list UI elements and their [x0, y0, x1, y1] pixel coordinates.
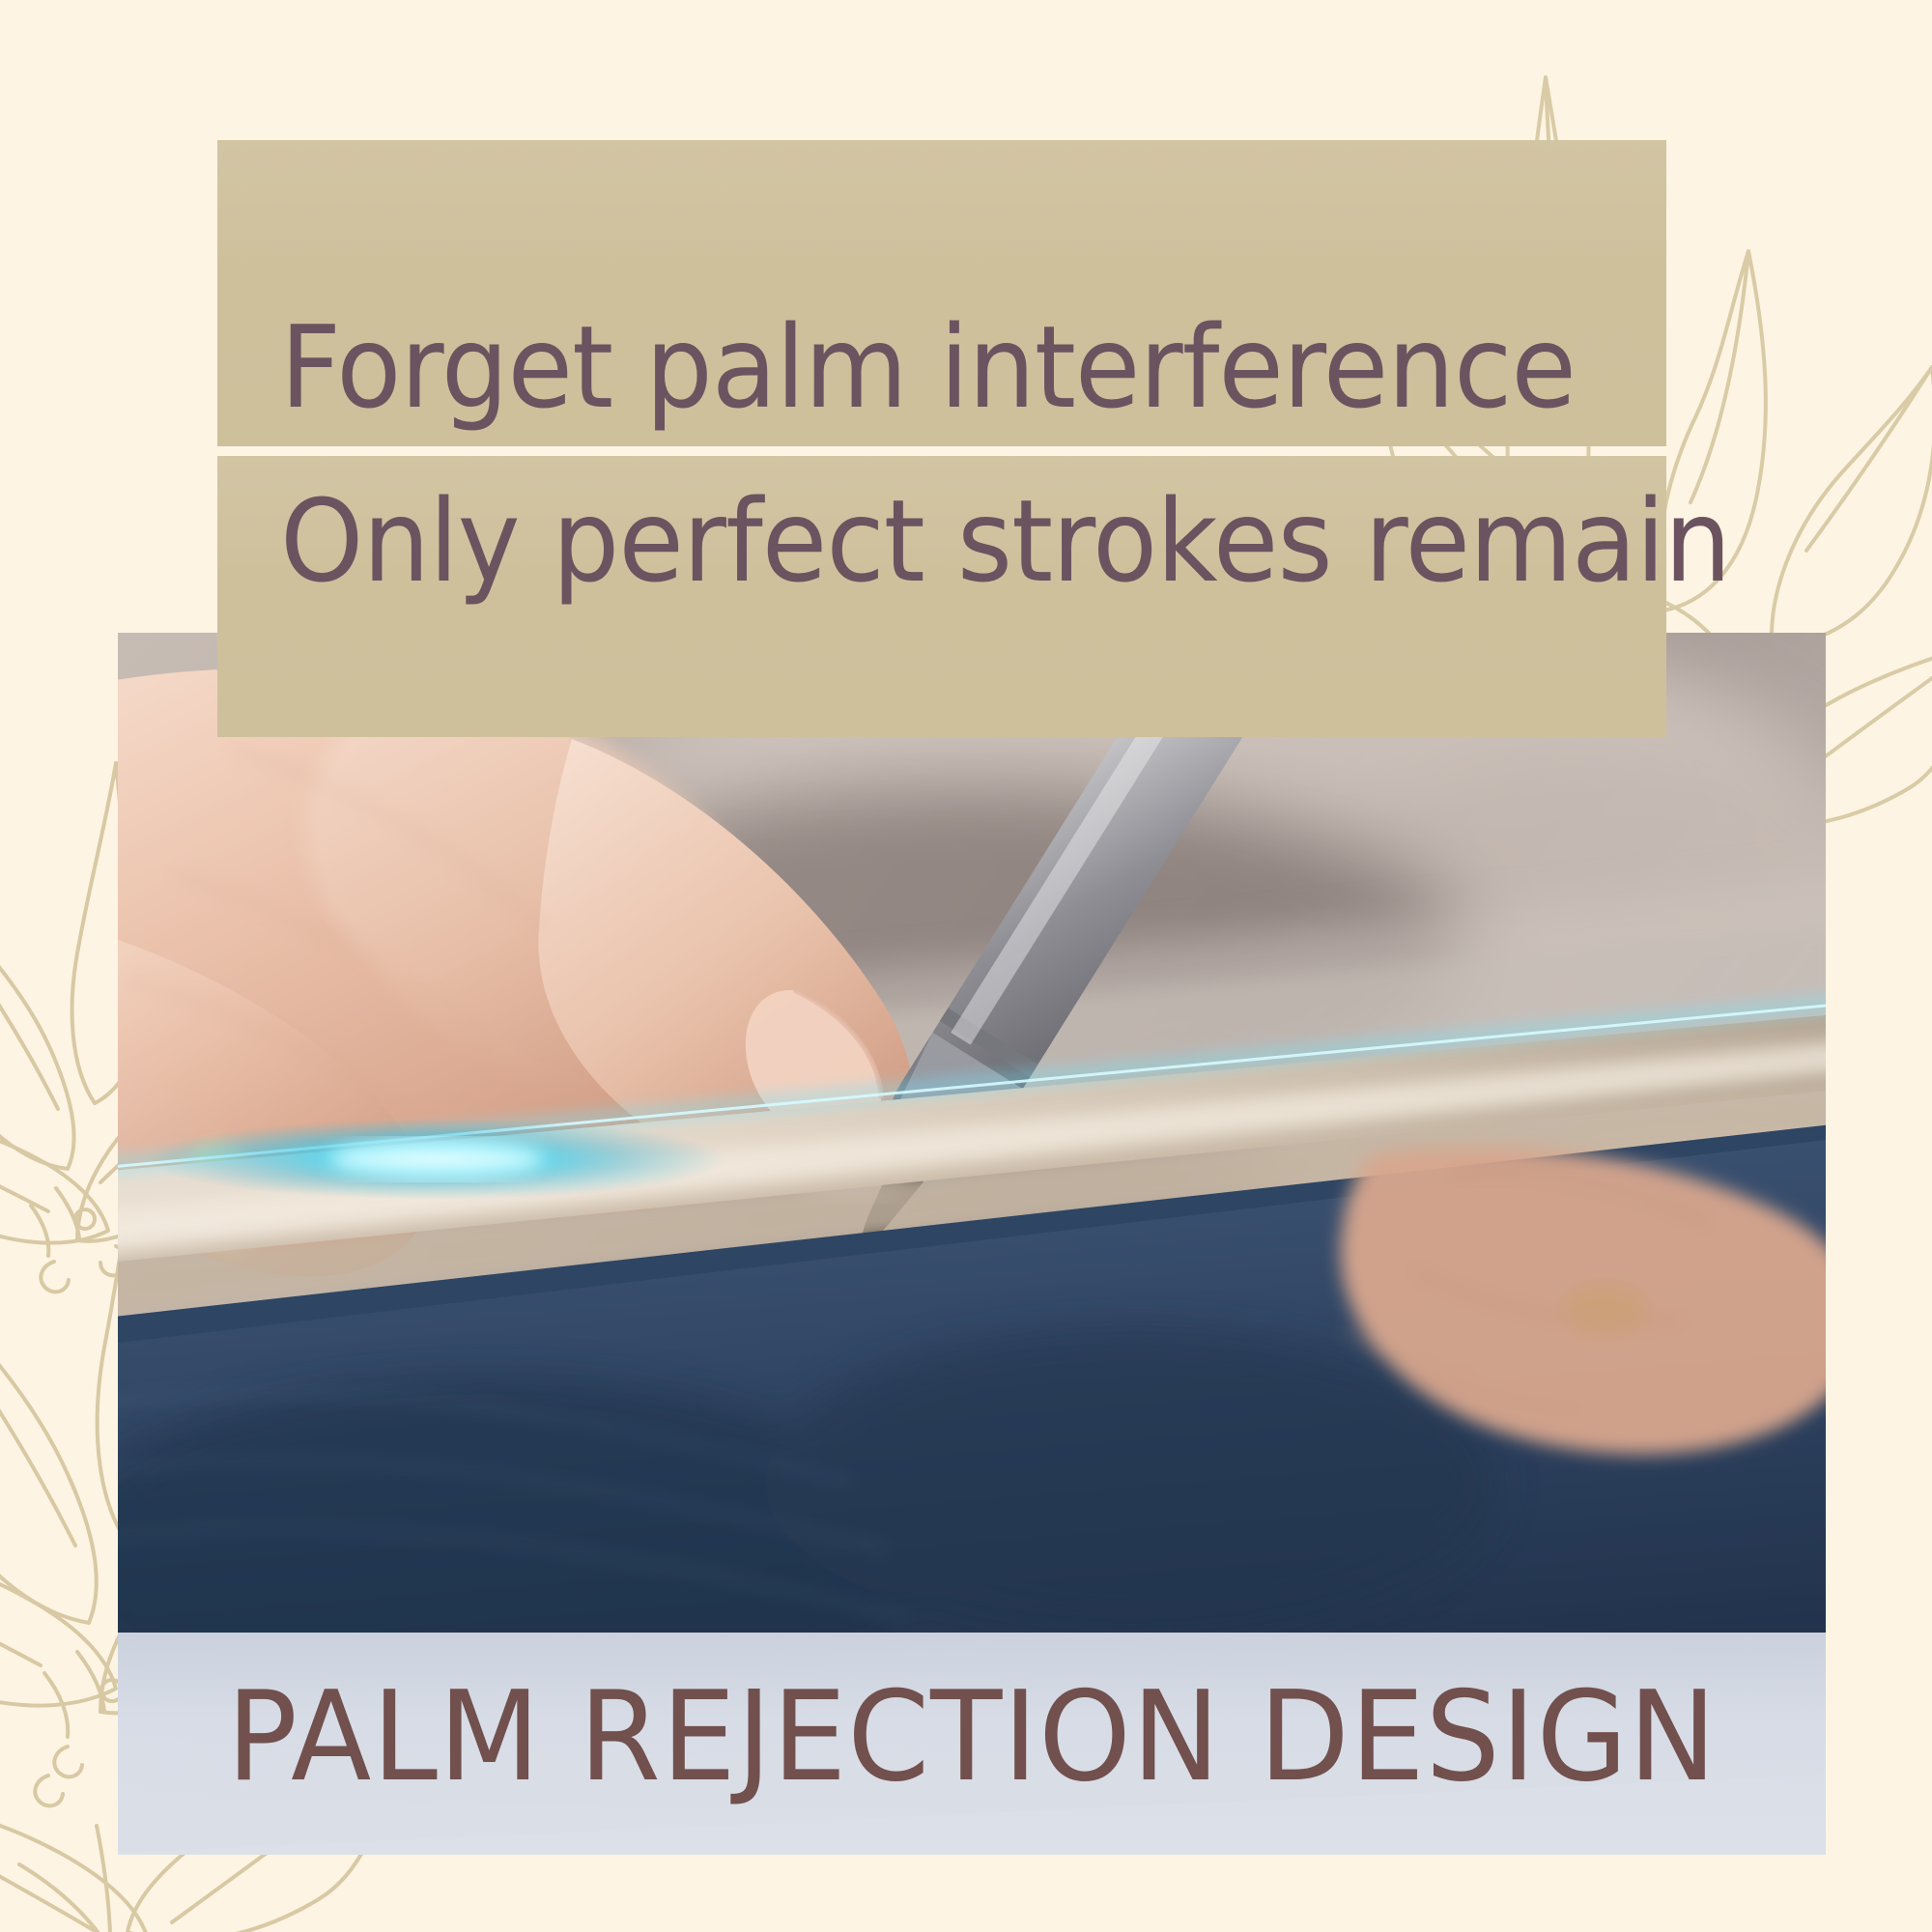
- poster-canvas: Forget palm interference Only perfect st…: [0, 0, 1932, 1932]
- headline-line-2: Only perfect strokes remain: [280, 483, 1730, 599]
- headline-line-1: Forget palm interference: [280, 309, 1576, 425]
- caption-title: PALM REJECTION DESIGN: [226, 1665, 1717, 1809]
- headline-band-secondary: Only perfect strokes remain: [217, 456, 1666, 737]
- caption-band: PALM REJECTION DESIGN: [118, 1633, 1826, 1855]
- headline-band-primary: Forget palm interference: [217, 140, 1666, 446]
